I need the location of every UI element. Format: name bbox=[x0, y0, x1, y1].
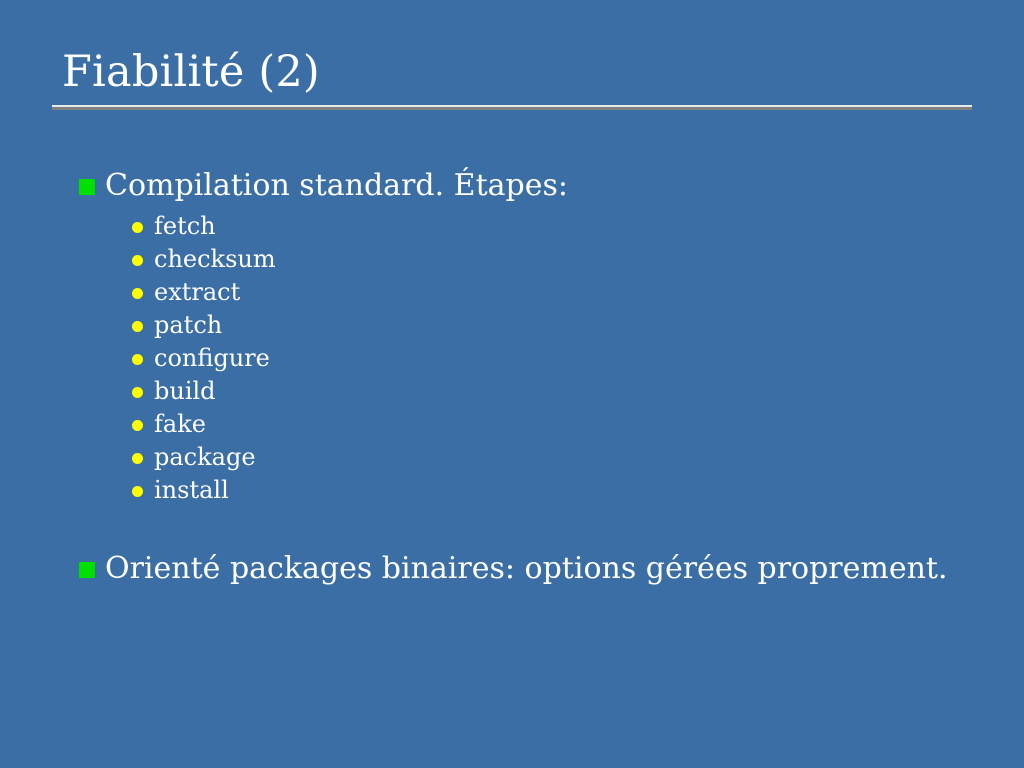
yellow-dot-bullet-icon bbox=[132, 420, 143, 431]
title-divider bbox=[52, 105, 972, 110]
slide-body: Compilation standard. Étapes: fetch chec… bbox=[78, 166, 978, 589]
yellow-dot-bullet-icon bbox=[132, 453, 143, 464]
list-item: package bbox=[132, 441, 978, 474]
yellow-dot-bullet-icon bbox=[132, 354, 143, 365]
slide-canvas: Fiabilité (2) Compilation standard. Étap… bbox=[0, 0, 1024, 768]
list-item: build bbox=[132, 375, 978, 408]
green-square-bullet-icon bbox=[79, 562, 95, 578]
green-square-bullet-icon bbox=[79, 179, 95, 195]
bullet-text: fetch bbox=[154, 210, 978, 243]
page-title: Fiabilité (2) bbox=[52, 44, 972, 100]
list-item: install bbox=[132, 474, 978, 507]
yellow-dot-bullet-icon bbox=[132, 222, 143, 233]
list-item: extract bbox=[132, 276, 978, 309]
list-item: fetch bbox=[132, 210, 978, 243]
list-item: configure bbox=[132, 342, 978, 375]
bullet-text: package bbox=[154, 441, 978, 474]
bullet-text: checksum bbox=[154, 243, 978, 276]
list-item: fake bbox=[132, 408, 978, 441]
yellow-dot-bullet-icon bbox=[132, 387, 143, 398]
bullet-list-level1: Compilation standard. Étapes: fetch chec… bbox=[78, 166, 978, 589]
bullet-text: install bbox=[154, 474, 978, 507]
bullet-text: fake bbox=[154, 408, 978, 441]
list-spacer bbox=[78, 507, 978, 549]
list-item: patch bbox=[132, 309, 978, 342]
list-item: checksum bbox=[132, 243, 978, 276]
list-item: Compilation standard. Étapes: fetch chec… bbox=[78, 166, 978, 507]
bullet-text: build bbox=[154, 375, 978, 408]
yellow-dot-bullet-icon bbox=[132, 486, 143, 497]
bullet-text: extract bbox=[154, 276, 978, 309]
bullet-text: patch bbox=[154, 309, 978, 342]
title-block: Fiabilité (2) bbox=[52, 44, 972, 110]
bullet-list-level2: fetch checksum extract patch bbox=[105, 210, 978, 507]
yellow-dot-bullet-icon bbox=[132, 288, 143, 299]
bullet-text: Orienté packages binaires: options gérée… bbox=[105, 549, 978, 589]
yellow-dot-bullet-icon bbox=[132, 255, 143, 266]
bullet-text: Compilation standard. Étapes: bbox=[105, 166, 978, 206]
bullet-text: configure bbox=[154, 342, 978, 375]
yellow-dot-bullet-icon bbox=[132, 321, 143, 332]
list-item: Orienté packages binaires: options gérée… bbox=[78, 549, 978, 589]
